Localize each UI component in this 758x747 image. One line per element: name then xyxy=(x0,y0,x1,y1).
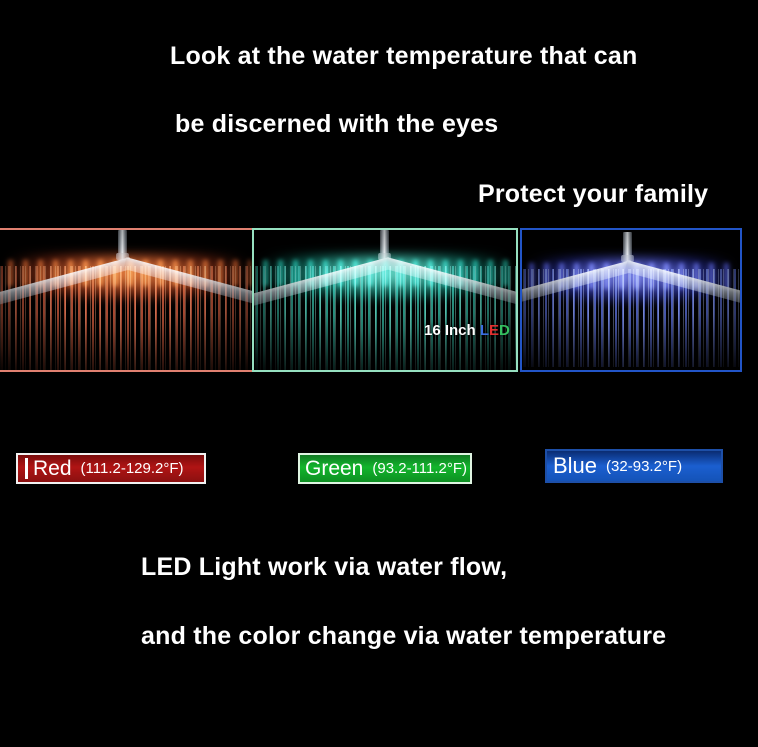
headline-line-1: Look at the water temperature that can xyxy=(170,42,637,71)
size-led-label: 16 Inch LED xyxy=(424,322,510,339)
footer-line-2: and the color change via water temperatu… xyxy=(141,622,666,651)
legend-badge-red[interactable]: Red (111.2-129.2°F) xyxy=(16,453,206,484)
shower-head-photo-blue xyxy=(522,230,740,370)
shower-head-photo-red xyxy=(0,230,253,370)
legend-badge-blue[interactable]: Blue (32-93.2°F) xyxy=(545,449,723,483)
led-letter-e: E xyxy=(489,322,499,339)
legend-temp-range: (32-93.2°F) xyxy=(606,458,690,475)
product-panel-blue[interactable] xyxy=(520,228,742,372)
legend-badge-green[interactable]: Green (93.2-111.2°F) xyxy=(298,453,472,484)
legend-color-name: Red xyxy=(33,457,72,481)
legend-tick-icon xyxy=(25,458,28,479)
water-curtain xyxy=(254,266,516,370)
product-panel-green[interactable]: 16 Inch LED xyxy=(252,228,518,372)
headline-line-2: be discerned with the eyes xyxy=(175,110,498,139)
led-letter-l: L xyxy=(480,322,489,339)
legend-temp-range: (93.2-111.2°F) xyxy=(372,460,475,477)
legend-color-name: Green xyxy=(305,457,363,481)
product-image-strip: 16 Inch LED xyxy=(0,228,758,376)
product-panel-red[interactable] xyxy=(0,228,255,372)
led-letter-d: D xyxy=(499,322,510,339)
shower-head-photo-green: 16 Inch LED xyxy=(254,230,516,370)
size-text: 16 Inch xyxy=(424,322,480,339)
water-curtain xyxy=(0,266,253,370)
headline-line-3: Protect your family xyxy=(478,180,708,209)
water-curtain xyxy=(522,269,740,367)
legend-temp-range: (111.2-129.2°F) xyxy=(81,460,192,477)
footer-line-1: LED Light work via water flow, xyxy=(141,553,507,582)
legend-color-name: Blue xyxy=(553,453,597,479)
